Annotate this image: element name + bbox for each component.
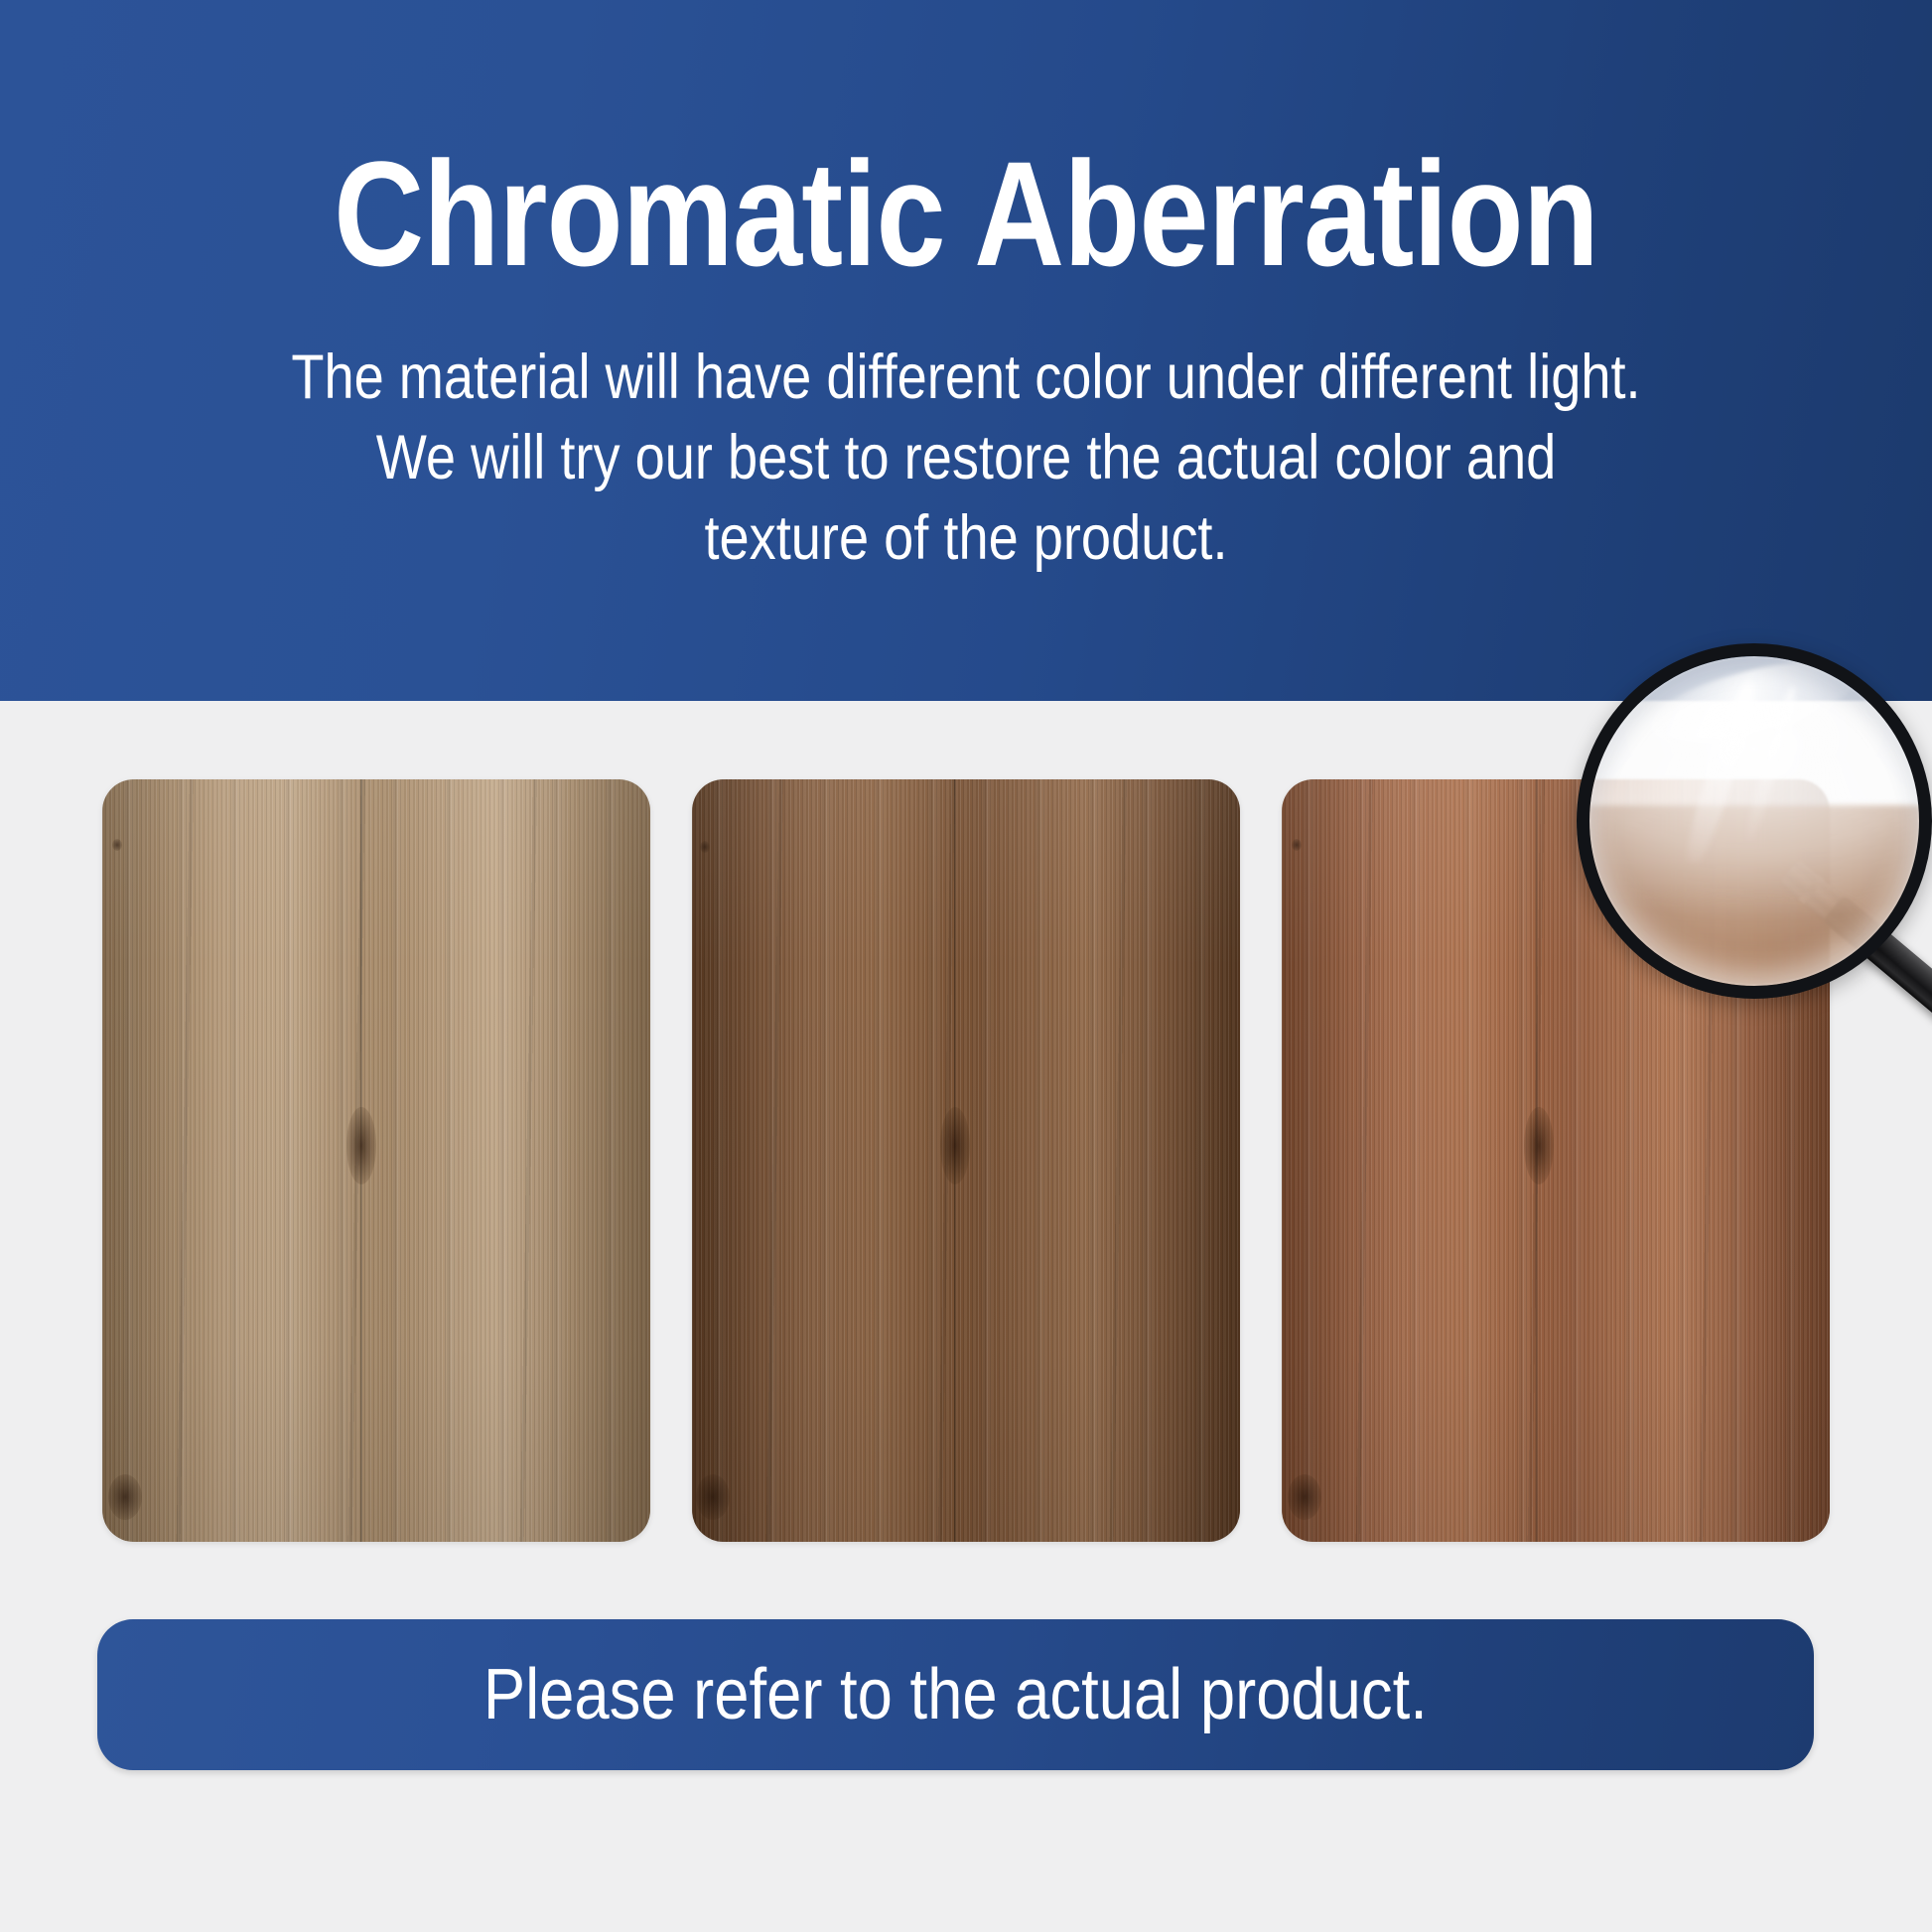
header-subtitle: The material will have different color u… [135,338,1797,579]
page-title: Chromatic Aberration [155,139,1778,288]
wood-shading-vertical [102,779,650,1542]
magnifier-grip [1823,895,1932,1033]
subtitle-line-1: The material will have different color u… [135,338,1797,418]
subtitle-line-3: texture of the product. [135,498,1797,579]
wood-swatch[interactable] [692,779,1240,1542]
footer-banner-text: Please refer to the actual product. [483,1659,1428,1730]
wood-swatch[interactable] [1282,779,1830,1542]
wood-swatch[interactable] [102,779,650,1542]
header-banner: Chromatic Aberration The material will h… [0,0,1932,701]
wood-shading-vertical [692,779,1240,1542]
wood-shading-vertical [1282,779,1830,1542]
poster-canvas: Chromatic Aberration The material will h… [0,0,1932,1932]
footer-banner[interactable]: Please refer to the actual product. [97,1619,1814,1770]
wood-swatch-row [102,779,1830,1542]
subtitle-line-2: We will try our best to restore the actu… [135,418,1797,498]
